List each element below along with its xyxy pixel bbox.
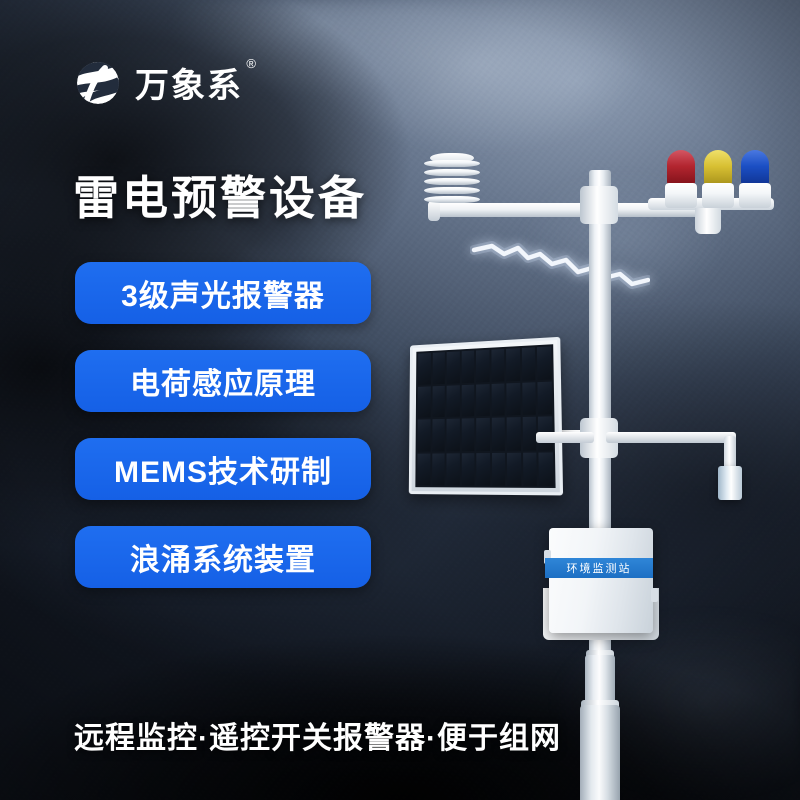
feature-badge-4[interactable]: 浪涌系统装置 — [75, 526, 371, 588]
blue-alarm-lamp-base — [739, 183, 771, 208]
solar-cell — [461, 384, 474, 416]
solar-cell — [461, 351, 474, 383]
poster-canvas: 环境监测站 万象系® — [0, 0, 800, 800]
mid-cross-arm-right — [606, 432, 736, 443]
solar-cell — [432, 419, 445, 451]
yellow-alarm-lamp-dome — [704, 150, 732, 186]
solar-cell — [538, 381, 552, 414]
alarm-light-stem — [695, 208, 721, 234]
top-arm-joint — [580, 186, 618, 224]
red-alarm-lamp-base — [665, 183, 697, 208]
solar-cell — [432, 352, 445, 384]
solar-cell — [492, 452, 506, 485]
illuminance-sensor — [718, 466, 742, 500]
solar-cell — [491, 383, 505, 416]
solar-cell — [432, 385, 445, 417]
shield-plate — [424, 178, 480, 185]
brand-name: 万象系® — [135, 58, 243, 107]
solar-cell — [418, 386, 431, 418]
solar-cell — [418, 353, 431, 385]
shield-plate — [424, 160, 480, 167]
solar-cell — [522, 347, 536, 380]
solar-cell — [476, 418, 489, 451]
solar-cell — [506, 348, 520, 381]
mid-cross-arm-left — [536, 432, 594, 443]
registered-trademark-icon: ® — [246, 56, 258, 71]
circle-swoosh-logo-icon — [75, 60, 121, 106]
control-box-label: 环境监测站 — [545, 558, 653, 578]
solar-cell — [491, 349, 504, 382]
shield-plate — [424, 196, 480, 203]
feature-badge-1[interactable]: 3级声光报警器 — [75, 262, 371, 324]
solar-cell — [476, 384, 489, 417]
solar-cell — [417, 419, 430, 451]
brand-logo: 万象系® — [75, 58, 243, 107]
solar-cell — [537, 346, 551, 379]
solar-cell — [447, 351, 460, 383]
radiation-shield-sensor — [424, 158, 480, 210]
shield-plate — [424, 187, 480, 194]
solar-cell — [417, 453, 430, 485]
yellow-alarm-lamp-base — [702, 183, 734, 208]
solar-cell — [447, 419, 460, 451]
solar-cell — [522, 382, 536, 415]
feature-badge-list: 3级声光报警器 电荷感应原理 MEMS技术研制 浪涌系统装置 — [75, 262, 371, 614]
solar-cell — [447, 385, 460, 417]
solar-cell — [507, 452, 521, 486]
solar-cell — [461, 418, 474, 451]
control-box-tab-right — [651, 588, 658, 602]
feature-badge-2[interactable]: 电荷感应原理 — [75, 350, 371, 412]
solar-cell — [492, 417, 506, 450]
solar-cell — [476, 350, 489, 382]
solar-cell — [523, 417, 537, 450]
solar-cell — [507, 417, 521, 450]
blue-alarm-lamp — [739, 150, 771, 208]
red-alarm-lamp-dome — [667, 150, 695, 186]
solar-cell — [432, 453, 445, 485]
red-alarm-lamp — [665, 150, 697, 208]
solar-panel-cells — [415, 344, 555, 488]
page-title: 雷电预警设备 — [73, 162, 367, 228]
yellow-alarm-lamp — [702, 150, 734, 208]
feature-badge-3[interactable]: MEMS技术研制 — [75, 438, 371, 500]
solar-panel — [409, 337, 563, 496]
solar-cell — [447, 453, 460, 486]
solar-cell — [523, 452, 537, 486]
solar-cell — [477, 453, 490, 486]
mast-segment-base — [580, 705, 620, 800]
solar-cell — [539, 452, 554, 486]
shield-plate — [424, 169, 480, 176]
brand-name-text: 万象系 — [135, 67, 243, 105]
tagline: 远程监控·遥控开关报警器·便于组网 — [74, 713, 561, 757]
solar-cell — [507, 382, 521, 415]
blue-alarm-lamp-dome — [741, 150, 769, 186]
control-box: 环境监测站 — [549, 528, 653, 633]
solar-cell — [461, 453, 474, 486]
